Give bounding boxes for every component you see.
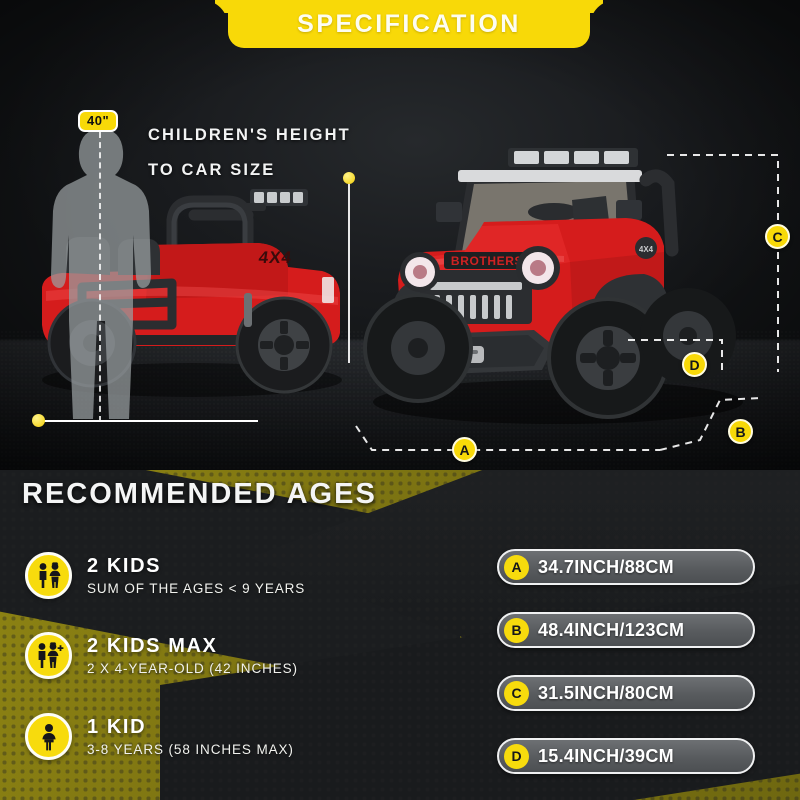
- grille-badge-text: BROTHERS: [451, 254, 523, 268]
- age-main-label: 2 KIDS MAX: [87, 635, 298, 657]
- page-title: SPECIFICATION: [297, 10, 521, 39]
- measurement-pill-b: B 48.4INCH/123CM: [497, 612, 755, 648]
- decal-4x4: 4X4: [257, 248, 293, 267]
- two-kids-plus-icon: [25, 632, 72, 679]
- age-sub-label: SUM OF THE AGES < 9 YEARS: [87, 581, 305, 596]
- marker-a: A: [452, 437, 477, 462]
- pill-letter-d: D: [504, 744, 529, 769]
- age-row: 1 KID 3-8 YEARS (58 INCHES MAX): [25, 713, 294, 760]
- age-main-label: 2 KIDS: [87, 555, 305, 577]
- svg-text:4X4: 4X4: [639, 245, 654, 254]
- rear-height-line: [348, 183, 350, 363]
- pill-letter-a: A: [504, 555, 529, 580]
- one-kid-icon: [25, 713, 72, 760]
- rear-height-dot: [343, 172, 355, 184]
- headlight-left: [400, 252, 440, 292]
- age-sub-label: 2 X 4-YEAR-OLD (42 INCHES): [87, 661, 298, 676]
- headline-line-1: CHILDREN'S HEIGHT: [148, 118, 351, 153]
- age-row: 2 KIDS MAX 2 X 4-YEAR-OLD (42 INCHES): [25, 632, 298, 679]
- pill-letter-c: C: [504, 681, 529, 706]
- ground-reference-dot: [32, 414, 45, 427]
- measurement-pill-c: C 31.5INCH/80CM: [497, 675, 755, 711]
- marker-b: B: [728, 419, 753, 444]
- pill-value-d: 15.4INCH/39CM: [538, 746, 674, 767]
- pill-value-c: 31.5INCH/80CM: [538, 683, 674, 704]
- specification-infographic: 4X4: [0, 0, 800, 800]
- headline: CHILDREN'S HEIGHT TO CAR SIZE: [148, 118, 351, 188]
- measurement-pill-d: D 15.4INCH/39CM: [497, 738, 755, 774]
- age-main-label: 1 KID: [87, 716, 294, 738]
- pill-value-a: 34.7INCH/88CM: [538, 557, 674, 578]
- age-sub-label: 3-8 YEARS (58 INCHES MAX): [87, 742, 294, 757]
- age-text: 2 KIDS SUM OF THE AGES < 9 YEARS: [87, 555, 305, 596]
- marker-c: C: [765, 224, 790, 249]
- height-badge: 40": [78, 110, 118, 132]
- height-dashed-line: [99, 132, 101, 422]
- two-kids-icon: [25, 552, 72, 599]
- age-text: 1 KID 3-8 YEARS (58 INCHES MAX): [87, 716, 294, 757]
- ground-reference-line: [38, 420, 258, 422]
- headline-line-2: TO CAR SIZE: [148, 153, 351, 188]
- pill-letter-b: B: [504, 618, 529, 643]
- header-tab: SPECIFICATION: [228, 0, 590, 48]
- headlight-right: [516, 246, 560, 290]
- section-title: RECOMMENDED AGES: [22, 478, 377, 511]
- ride-on-car-front-view: BROTHERS 4X4: [358, 140, 758, 430]
- product-photo-section: 4X4: [0, 0, 800, 470]
- marker-d: D: [682, 352, 707, 377]
- child-silhouette: [45, 125, 157, 425]
- measurement-pill-a: A 34.7INCH/88CM: [497, 549, 755, 585]
- pill-value-b: 48.4INCH/123CM: [538, 620, 684, 641]
- age-text: 2 KIDS MAX 2 X 4-YEAR-OLD (42 INCHES): [87, 635, 298, 676]
- wheel-front-left: [364, 294, 472, 402]
- age-row: 2 KIDS SUM OF THE AGES < 9 YEARS: [25, 552, 305, 599]
